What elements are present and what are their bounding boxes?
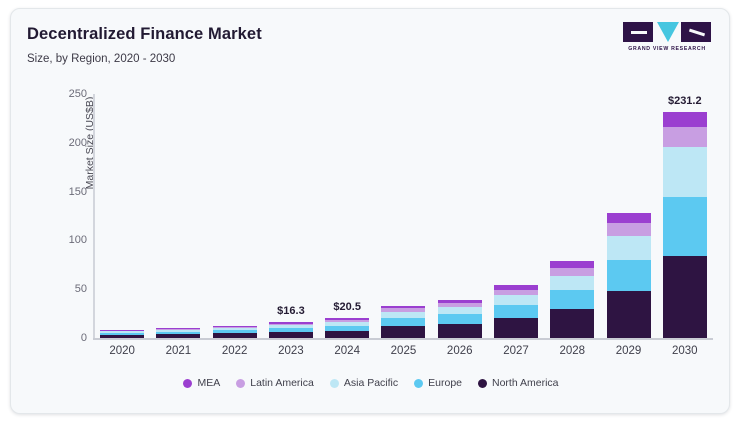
legend-label: Europe xyxy=(428,377,462,389)
bar-stack[interactable] xyxy=(381,306,425,338)
chart-legend: MEALatin AmericaAsia PacificEuropeNorth … xyxy=(11,377,730,389)
legend-item[interactable]: Europe xyxy=(414,377,462,389)
bar-segment-eur[interactable] xyxy=(663,197,707,257)
bar-stack[interactable] xyxy=(100,330,144,338)
bar-column[interactable] xyxy=(94,94,150,338)
legend-label: North America xyxy=(492,377,559,389)
legend-label: MEA xyxy=(197,377,220,389)
x-tick-label: 2021 xyxy=(150,345,206,367)
bar-segment-na[interactable] xyxy=(663,256,707,338)
bar-segment-na[interactable] xyxy=(269,332,313,338)
y-axis-ticks: 050100150200250 xyxy=(41,89,87,339)
x-tick-label: 2026 xyxy=(432,345,488,367)
bar-segment-apac[interactable] xyxy=(438,307,482,314)
bar-column[interactable] xyxy=(207,94,263,338)
y-tick-label: 150 xyxy=(41,186,87,198)
bar-value-label: $231.2 xyxy=(640,95,730,107)
legend-color-swatch xyxy=(330,379,339,388)
bar-segment-eur[interactable] xyxy=(494,305,538,318)
x-tick-label: 2020 xyxy=(94,345,150,367)
bar-column[interactable]: $20.5 xyxy=(319,94,375,338)
bar-column[interactable] xyxy=(432,94,488,338)
y-tick-label: 0 xyxy=(41,332,87,344)
bar-segment-eur[interactable] xyxy=(607,260,651,291)
bar-segment-lam[interactable] xyxy=(663,127,707,147)
legend-color-swatch xyxy=(478,379,487,388)
legend-item[interactable]: MEA xyxy=(183,377,220,389)
x-axis-line xyxy=(93,338,713,340)
bar-segment-na[interactable] xyxy=(494,318,538,338)
bar-column[interactable] xyxy=(150,94,206,338)
bar-segment-na[interactable] xyxy=(213,333,257,338)
bar-stack[interactable] xyxy=(494,285,538,338)
y-tick-label: 200 xyxy=(41,137,87,149)
x-tick-label: 2022 xyxy=(207,345,263,367)
bar-segment-na[interactable] xyxy=(325,331,369,338)
bar-segment-mea[interactable] xyxy=(607,213,651,224)
bar-segment-apac[interactable] xyxy=(663,147,707,197)
bar-segment-apac[interactable] xyxy=(607,236,651,260)
bar-segment-na[interactable] xyxy=(438,324,482,338)
bar-column[interactable] xyxy=(488,94,544,338)
bar-segment-mea[interactable] xyxy=(663,112,707,126)
bar-segment-na[interactable] xyxy=(156,334,200,338)
bar-segment-na[interactable] xyxy=(381,326,425,338)
bar-segment-lam[interactable] xyxy=(550,268,594,276)
legend-label: Asia Pacific xyxy=(344,377,398,389)
bar-stack[interactable] xyxy=(269,322,313,338)
stacked-bar-chart: Market Size (US$B) 050100150200250 $16.3… xyxy=(11,9,730,414)
bar-segment-eur[interactable] xyxy=(381,318,425,326)
bar-stack[interactable] xyxy=(213,326,257,338)
x-tick-label: 2024 xyxy=(319,345,375,367)
legend-label: Latin America xyxy=(250,377,314,389)
bar-stack[interactable] xyxy=(550,261,594,338)
bar-segment-eur[interactable] xyxy=(438,314,482,323)
bar-column[interactable] xyxy=(544,94,600,338)
x-tick-label: 2029 xyxy=(600,345,656,367)
legend-color-swatch xyxy=(236,379,245,388)
bar-stack[interactable] xyxy=(438,300,482,338)
y-tick-label: 250 xyxy=(41,88,87,100)
bar-segment-apac[interactable] xyxy=(550,276,594,291)
legend-item[interactable]: Asia Pacific xyxy=(330,377,398,389)
legend-item[interactable]: North America xyxy=(478,377,559,389)
x-tick-label: 2027 xyxy=(488,345,544,367)
x-axis-ticks: 2020202120222023202420252026202720282029… xyxy=(94,345,713,367)
y-tick-label: 100 xyxy=(41,234,87,246)
bar-column[interactable]: $231.2 xyxy=(657,94,713,338)
legend-item[interactable]: Latin America xyxy=(236,377,314,389)
bar-column[interactable] xyxy=(600,94,656,338)
bar-stack[interactable] xyxy=(607,213,651,338)
chart-card: Decentralized Finance Market Size, by Re… xyxy=(10,8,730,414)
legend-color-swatch xyxy=(414,379,423,388)
bar-stack[interactable] xyxy=(663,112,707,338)
legend-color-swatch xyxy=(183,379,192,388)
y-tick-label: 50 xyxy=(41,283,87,295)
x-tick-label: 2030 xyxy=(657,345,713,367)
bar-segment-na[interactable] xyxy=(550,309,594,338)
x-tick-label: 2025 xyxy=(375,345,431,367)
bar-segment-lam[interactable] xyxy=(607,223,651,235)
bar-segment-na[interactable] xyxy=(100,335,144,338)
bar-segment-apac[interactable] xyxy=(494,295,538,305)
bar-segment-eur[interactable] xyxy=(550,290,594,309)
bar-column[interactable] xyxy=(375,94,431,338)
bar-series-area: $16.3$20.5$231.2 xyxy=(94,94,713,338)
bar-stack[interactable] xyxy=(325,318,369,338)
x-tick-label: 2028 xyxy=(544,345,600,367)
bar-segment-na[interactable] xyxy=(607,291,651,338)
bar-stack[interactable] xyxy=(156,328,200,338)
x-tick-label: 2023 xyxy=(263,345,319,367)
